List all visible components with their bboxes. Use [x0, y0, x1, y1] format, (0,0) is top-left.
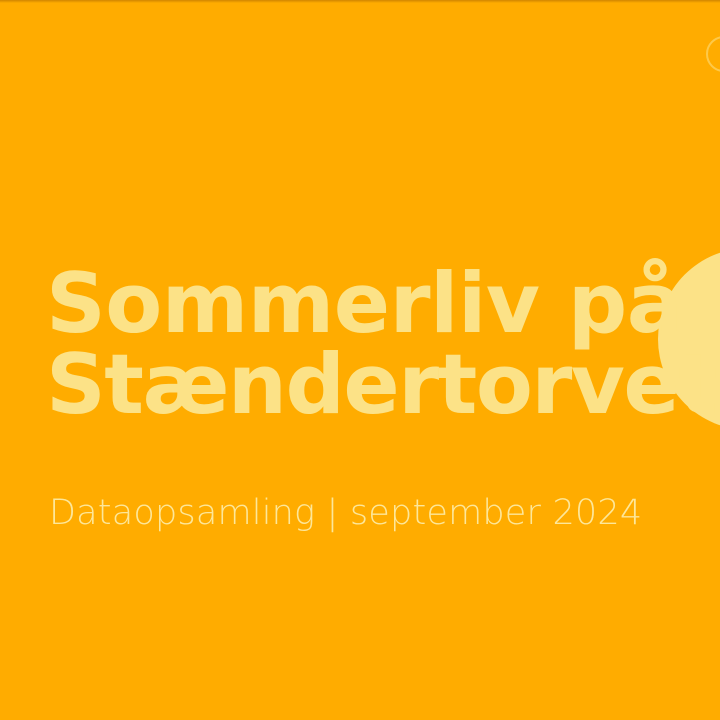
page-title-line-2: Stændertorvet [46, 345, 720, 426]
page-title-line-1: Sommerliv på [46, 264, 720, 345]
page-title: Sommerliv på Stændertorvet [46, 264, 720, 425]
title-slide: Sommerliv på Stændertorvet Dataopsamling… [0, 0, 720, 720]
page-subtitle: Dataopsamling | september 2024 [49, 493, 642, 533]
slide-content: Sommerliv på Stændertorvet Dataopsamling… [0, 0, 720, 720]
